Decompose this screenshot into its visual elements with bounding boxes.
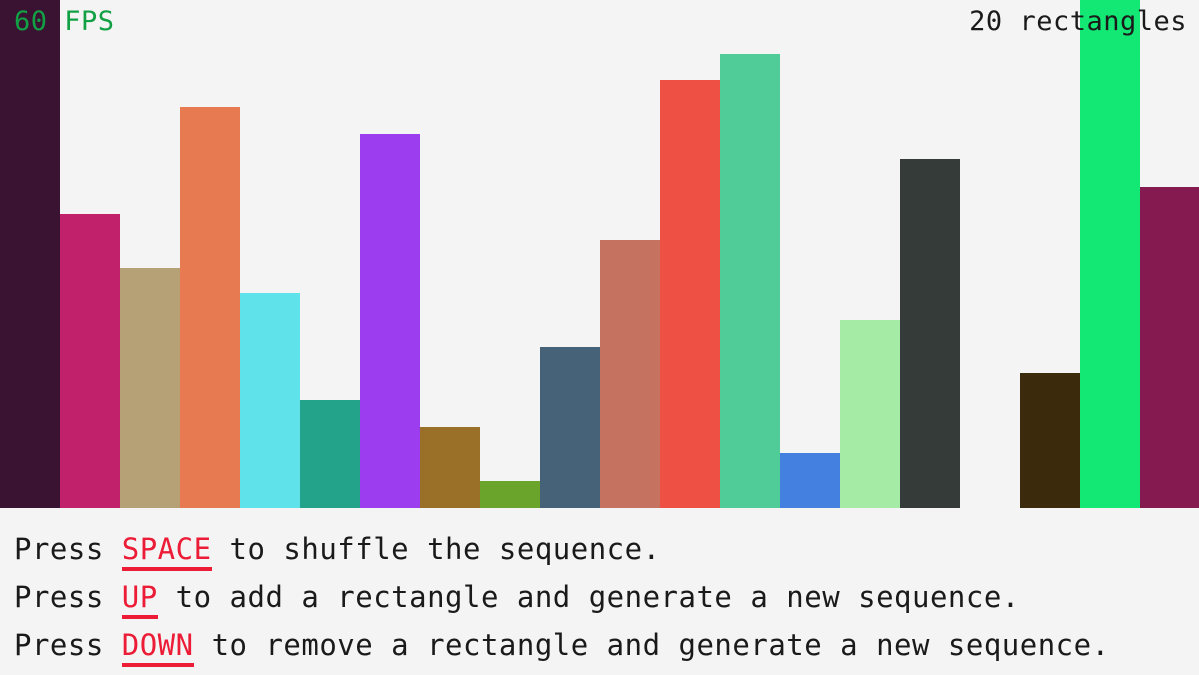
bar-4	[180, 107, 240, 508]
bar-18	[1020, 373, 1080, 508]
instruction-suffix: to shuffle the sequence.	[212, 532, 661, 566]
bar-chart-plot	[0, 0, 1199, 508]
instruction-suffix: to remove a rectangle and generate a new…	[194, 628, 1110, 662]
instruction-prefix: Press	[14, 532, 122, 566]
key-up[interactable]: UP	[122, 580, 158, 619]
key-down[interactable]: DOWN	[122, 628, 194, 667]
fps-counter: 60 FPS	[14, 8, 115, 35]
bar-13	[720, 54, 780, 508]
bar-11	[600, 240, 660, 508]
instruction-prefix: Press	[14, 628, 122, 662]
bar-16	[900, 159, 960, 508]
instruction-suffix: to add a rectangle and generate a new se…	[158, 580, 1020, 614]
bar-6	[300, 400, 360, 508]
bar-15	[840, 320, 900, 508]
instructions-panel: Press SPACE to shuffle the sequence.Pres…	[0, 508, 1199, 675]
bar-8	[420, 427, 480, 508]
instruction-line-1: Press SPACE to shuffle the sequence.	[14, 525, 1199, 573]
bar-14	[780, 453, 840, 508]
instruction-line-3: Press DOWN to remove a rectangle and gen…	[14, 621, 1199, 669]
rectangle-visualizer-canvas: 60 FPS 20 rectangles Press SPACE to shuf…	[0, 0, 1199, 675]
bar-9	[480, 481, 540, 508]
instruction-line-2: Press UP to add a rectangle and generate…	[14, 573, 1199, 621]
bar-7	[360, 134, 420, 508]
bar-1	[0, 0, 60, 508]
bar-20	[1140, 187, 1199, 508]
bar-10	[540, 347, 600, 508]
bar-3	[120, 268, 180, 508]
bar-19	[1080, 0, 1140, 508]
key-space[interactable]: SPACE	[122, 532, 212, 571]
rectangle-count-label: 20 rectangles	[969, 8, 1187, 35]
instruction-prefix: Press	[14, 580, 122, 614]
bar-12	[660, 80, 720, 508]
bar-5	[240, 293, 300, 508]
bar-2	[60, 214, 120, 508]
